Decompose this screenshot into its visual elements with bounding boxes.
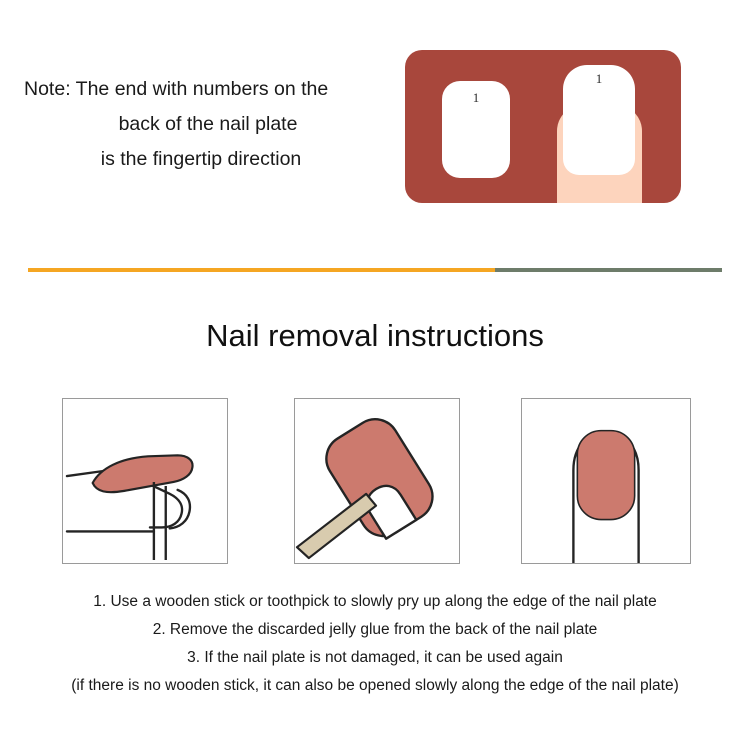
instruction-line-4: (if there is no wooden stick, it can als… — [0, 672, 750, 700]
note-line-3: is the fingertip direction — [0, 142, 398, 177]
instruction-line-1: 1. Use a wooden stick or toothpick to sl… — [0, 588, 750, 616]
divider-orange-segment — [28, 268, 495, 272]
instruction-line-3: 3. If the nail plate is not damaged, it … — [0, 644, 750, 672]
instruction-caption-list: 1. Use a wooden stick or toothpick to sl… — [0, 588, 750, 700]
nail-swatch-left: 1 — [442, 81, 510, 178]
note-line-1: Note: The end with numbers on the — [0, 72, 398, 107]
note-section: Note: The end with numbers on the back o… — [0, 0, 750, 255]
panel-pry-up-nail-plate — [62, 398, 228, 564]
nail-number-right: 1 — [563, 71, 635, 87]
instruction-line-2: 2. Remove the discarded jelly glue from … — [0, 616, 750, 644]
page-title: Nail removal instructions — [0, 318, 750, 354]
scrape-glue-illustration-icon — [295, 399, 459, 563]
section-divider — [28, 268, 722, 272]
note-text-block: Note: The end with numbers on the back o… — [0, 72, 398, 177]
pry-up-illustration-icon — [63, 399, 227, 563]
nail-number-left: 1 — [442, 90, 510, 106]
note-line-2: back of the nail plate — [0, 107, 398, 142]
divider-green-segment — [495, 268, 722, 272]
instruction-panels — [0, 398, 750, 566]
nail-plate-illustration: 1 1 — [405, 50, 681, 203]
panel-remove-jelly-glue — [294, 398, 460, 564]
nail-swatch-right: 1 — [563, 65, 635, 175]
panel-reusable-nail-plate — [521, 398, 691, 564]
intact-nail-illustration-icon — [522, 399, 690, 563]
